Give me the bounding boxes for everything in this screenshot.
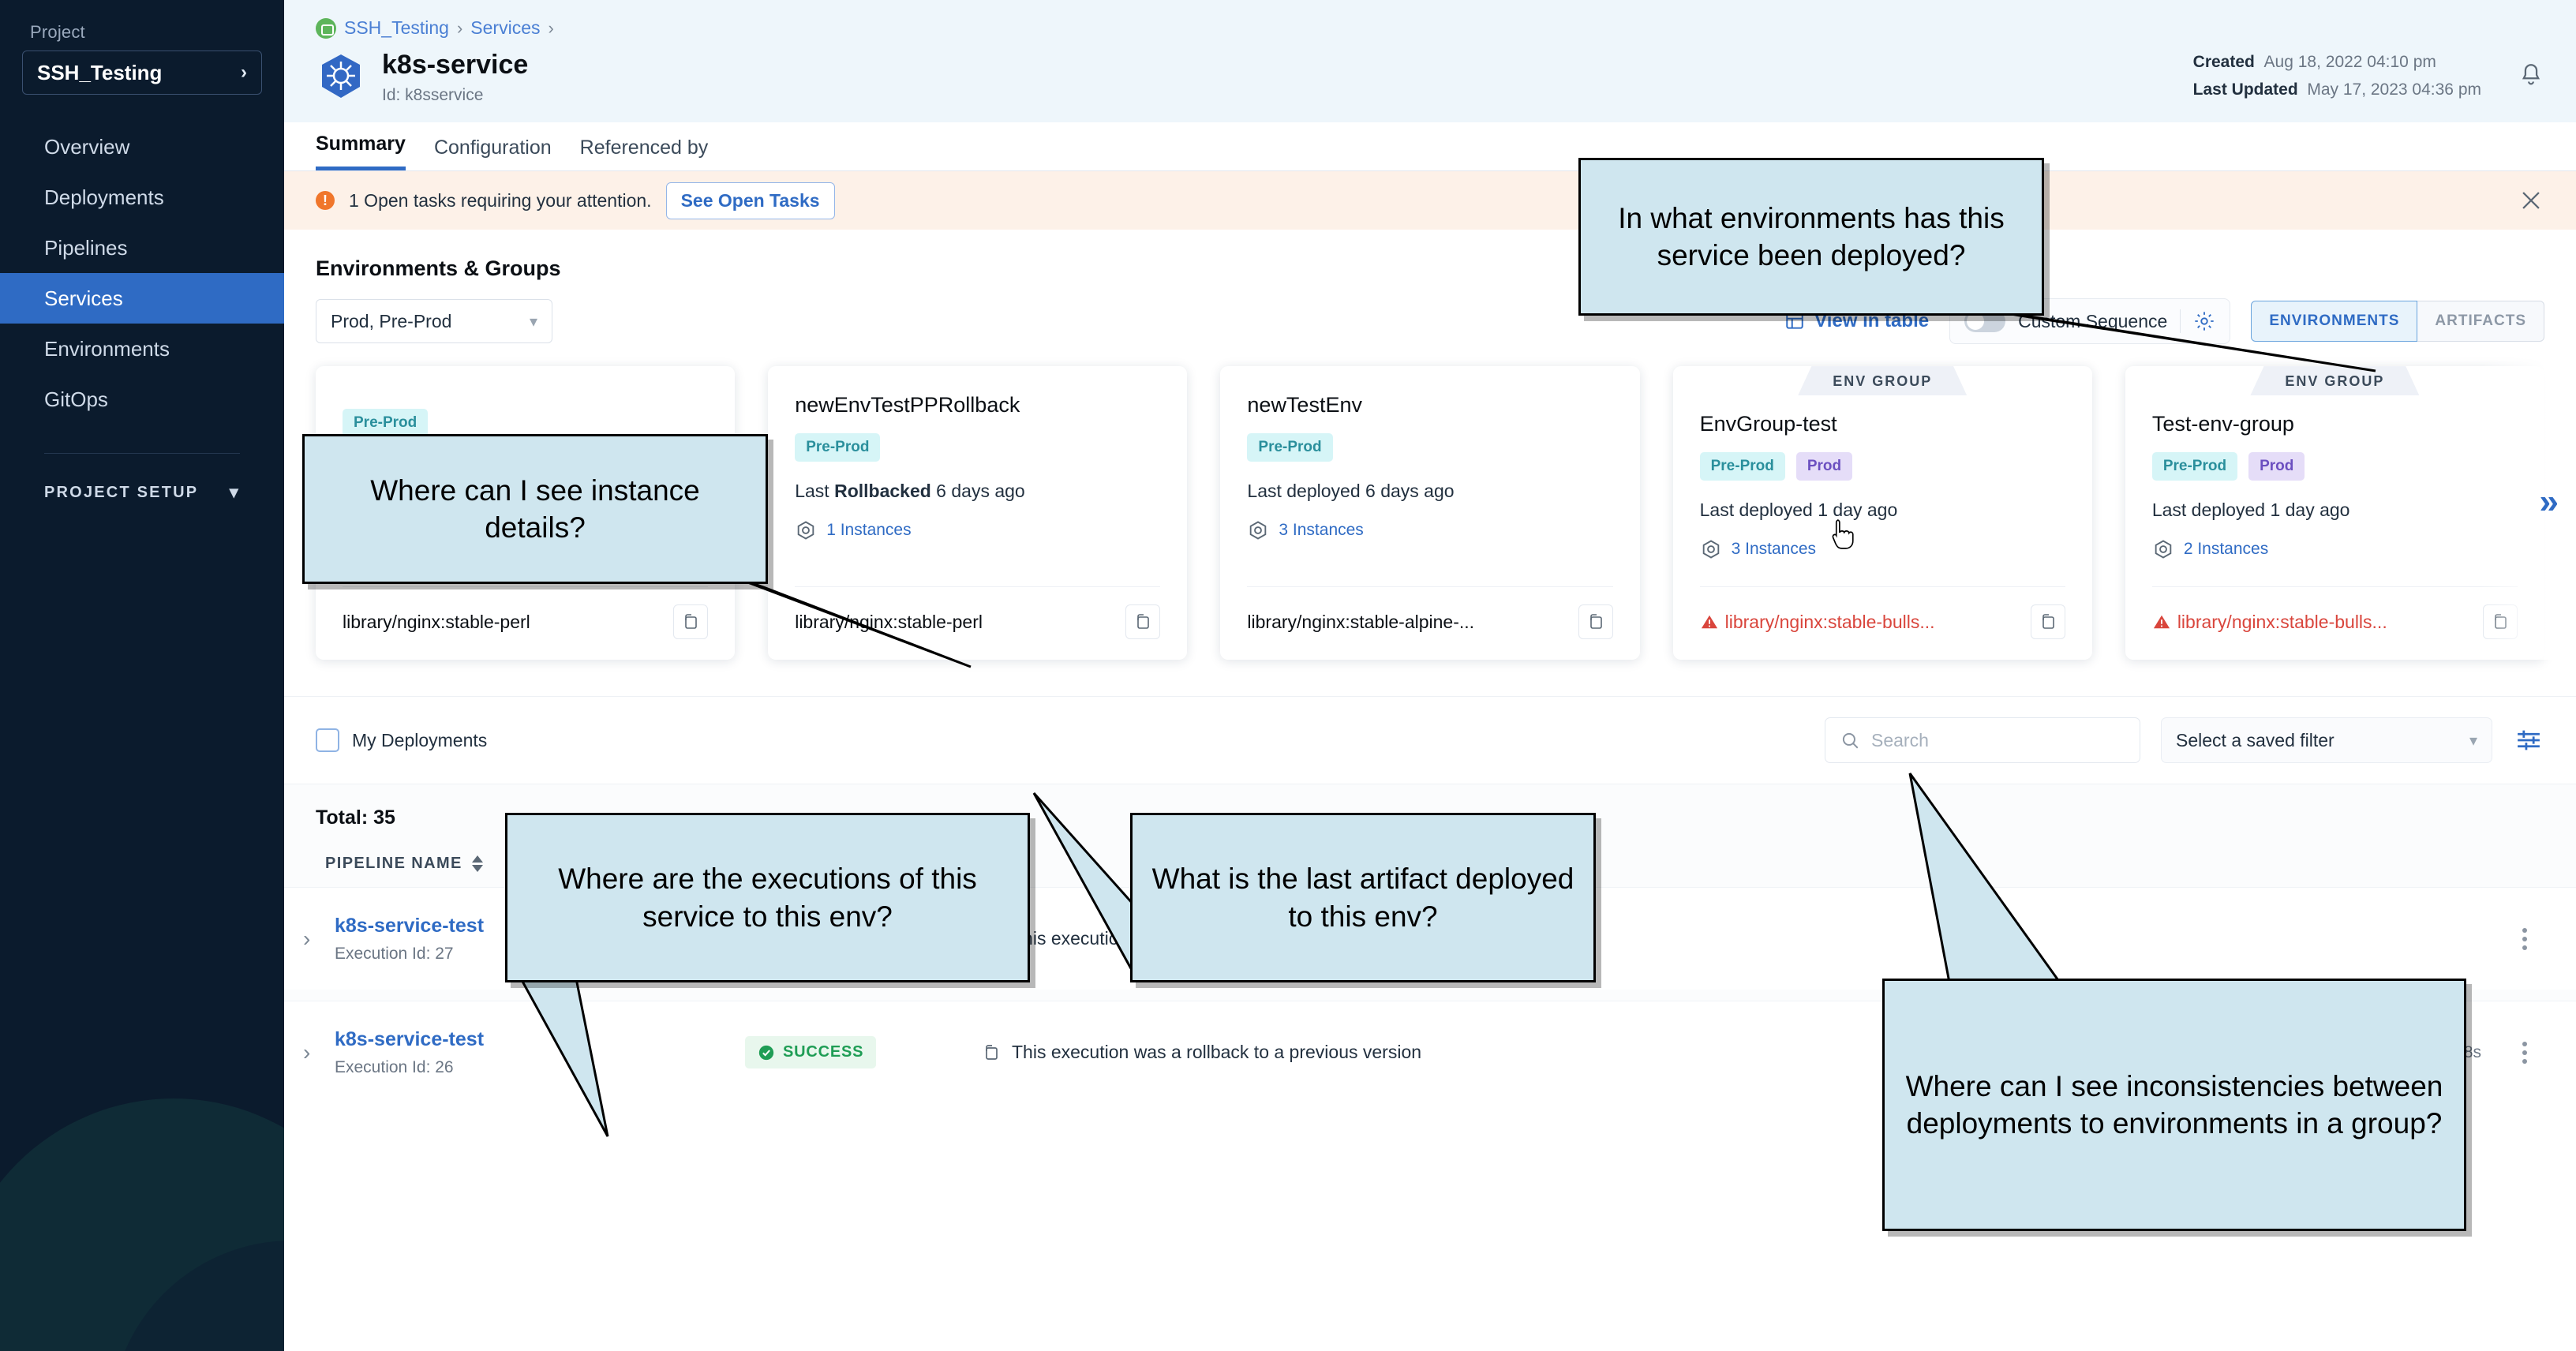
app-root: Project SSH_Testing › Overview Deploymen… — [0, 0, 2576, 1351]
callout-text: Where can I see instance details? — [324, 472, 747, 547]
mouse-cursor-pointer-icon — [1829, 517, 1856, 552]
callout-environments-deployed: In what environments has this service be… — [1578, 158, 2044, 316]
callout-text: Where can I see inconsistencies between … — [1904, 1068, 2445, 1143]
callout-last-artifact: What is the last artifact deployed to th… — [1130, 813, 1596, 982]
callout-text: Where are the executions of this service… — [526, 860, 1009, 935]
callout-instance-details: Where can I see instance details? — [302, 434, 768, 584]
callout-text: What is the last artifact deployed to th… — [1151, 860, 1574, 935]
callout-text: In what environments has this service be… — [1600, 200, 2023, 275]
callout-inconsistencies: Where can I see inconsistencies between … — [1882, 979, 2466, 1231]
callout-executions: Where are the executions of this service… — [505, 813, 1030, 982]
